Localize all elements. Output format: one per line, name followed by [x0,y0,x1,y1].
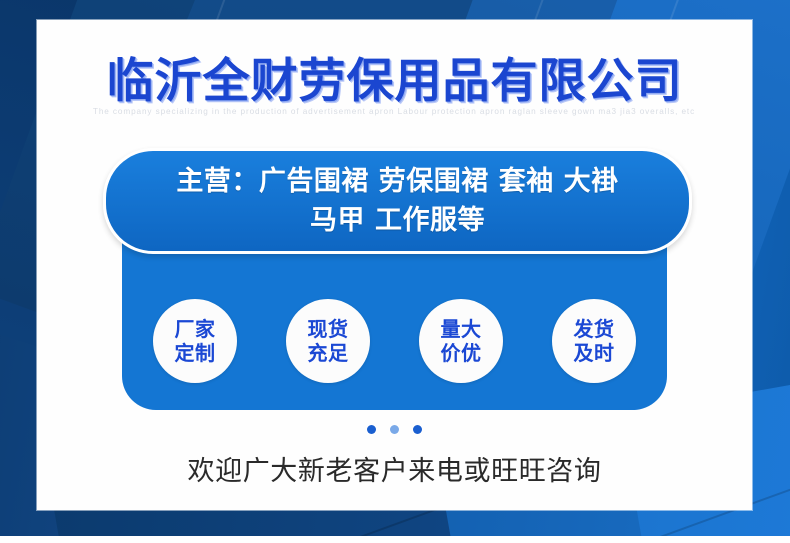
feature-badge-line-2: 及时 [574,341,615,365]
feature-badge-line-1: 发货 [574,317,615,341]
separator-dot-icon [413,425,422,434]
content-card: 临沂全财劳保用品有限公司 The company specializing in… [37,20,752,510]
feature-badge-line-2: 定制 [175,341,216,365]
feature-badge-bulk-discount: 量大 价优 [419,299,503,383]
dot-separator [37,425,752,434]
feature-badge-line-2: 价优 [441,341,482,365]
feature-badge-line-1: 量大 [441,317,482,341]
promo-banner: 临沂全财劳保用品有限公司 The company specializing in… [0,0,790,543]
feature-badges: 厂家 定制 现货 充足 量大 价优 发货 及时 [122,298,667,384]
footer-invitation-text: 欢迎广大新老客户来电或旺旺咨询 [37,449,752,488]
products-pill: 主营：广告围裙 劳保围裙 套袖 大褂 马甲 工作服等 [103,148,692,254]
separator-dot-icon [390,425,399,434]
bottom-margin [0,536,790,543]
separator-dot-icon [367,425,376,434]
background-edge [759,469,790,536]
company-subtitle-english: The company specializing in the producti… [79,104,709,120]
feature-badge-line-2: 充足 [308,341,349,365]
feature-badge-stock-sufficient: 现货 充足 [286,299,370,383]
feature-badge-line-1: 厂家 [175,317,216,341]
feature-badge-line-1: 现货 [308,317,349,341]
products-line-1: 主营：广告围裙 劳保围裙 套袖 大褂 [176,162,618,201]
products-line-2: 马甲 工作服等 [310,201,485,240]
feature-badge-factory-custom: 厂家 定制 [153,299,237,383]
company-title: 临沂全财劳保用品有限公司 [37,42,752,111]
feature-badge-fast-shipping: 发货 及时 [552,299,636,383]
